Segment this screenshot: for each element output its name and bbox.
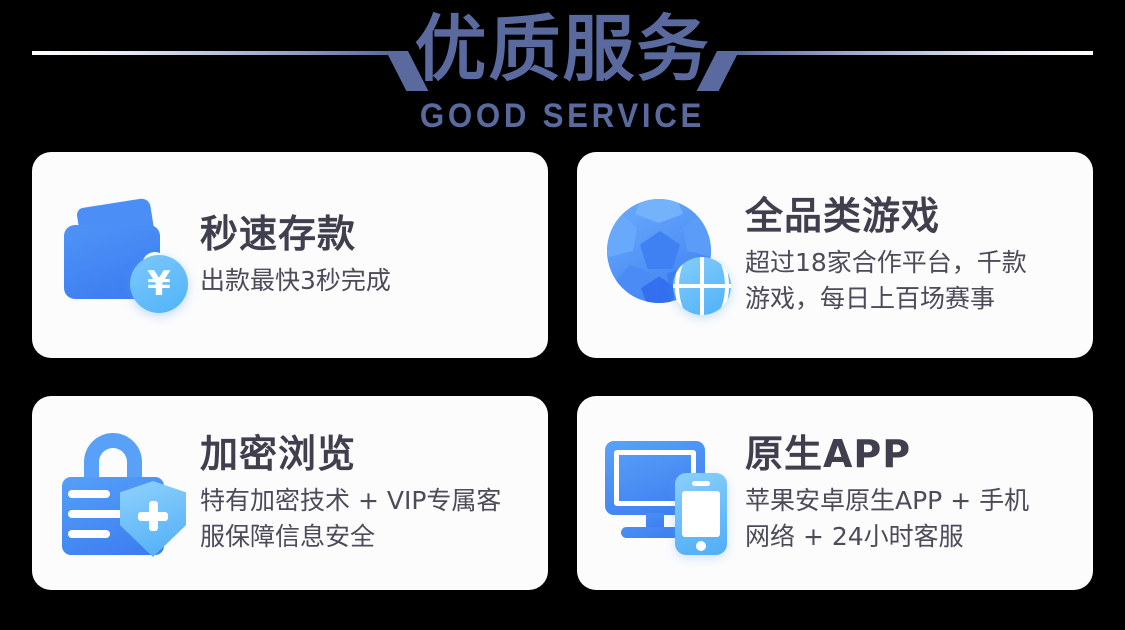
phone-home-button-icon (696, 541, 706, 551)
padlock-line (68, 510, 124, 518)
feature-card-deposit[interactable]: ¥ 秒速存款 出款最快3秒完成 (32, 152, 548, 358)
feature-card-subtitle: 特有加密技术 + VIP专属客 服保障信息安全 (200, 483, 530, 555)
lock-shield-icon (58, 427, 190, 559)
smartphone-icon (675, 473, 727, 555)
feature-card-native-app[interactable]: 原生APP 苹果安卓原生APP + 手机 网络 + 24小时客服 (577, 396, 1093, 590)
feature-card-title: 加密浏览 (200, 431, 530, 477)
feature-card-title: 原生APP (745, 431, 1075, 477)
feature-card-games[interactable]: 全品类游戏 超过18家合作平台，千款 游戏，每日上百场赛事 (577, 152, 1093, 358)
phone-speaker-icon (692, 481, 710, 486)
monitor-phone-icon (603, 427, 735, 559)
poster-root: 优质服务 GOOD SERVICE ¥ 秒速存款 出款最快3秒完成 (0, 0, 1125, 630)
basketball-arc (675, 257, 729, 315)
wallet-coin-icon: ¥ (58, 189, 190, 321)
feature-card-encryption[interactable]: 加密浏览 特有加密技术 + VIP专属客 服保障信息安全 (32, 396, 548, 590)
feature-card-title: 秒速存款 (200, 211, 530, 257)
padlock-line (68, 530, 110, 538)
feature-card-subtitle: 苹果安卓原生APP + 手机 网络 + 24小时客服 (745, 483, 1075, 555)
page-subtitle-en: GOOD SERVICE (45, 97, 1080, 135)
feature-card-grid: ¥ 秒速存款 出款最快3秒完成 (32, 152, 1093, 596)
yen-coin-icon: ¥ (130, 255, 188, 313)
soccer-panel (607, 215, 637, 257)
yen-symbol: ¥ (147, 267, 171, 301)
feature-card-text: 秒速存款 出款最快3秒完成 (200, 211, 530, 299)
feature-card-subtitle: 出款最快3秒完成 (200, 263, 530, 299)
feature-card-subtitle: 超过18家合作平台，千款 游戏，每日上百场赛事 (745, 245, 1075, 317)
soccer-basketball-icon (603, 189, 735, 321)
feature-card-title: 全品类游戏 (745, 193, 1075, 239)
page-title-cn: 优质服务 (0, 6, 1125, 92)
padlock-line (68, 490, 110, 498)
phone-screen-icon (682, 491, 720, 537)
header: 优质服务 GOOD SERVICE (0, 0, 1125, 145)
feature-card-text: 原生APP 苹果安卓原生APP + 手机 网络 + 24小时客服 (745, 431, 1075, 555)
feature-card-text: 加密浏览 特有加密技术 + VIP专属客 服保障信息安全 (200, 431, 530, 555)
soccer-panel (635, 199, 683, 223)
soccer-panel (640, 231, 680, 269)
basketball-icon (673, 257, 731, 315)
plus-icon (138, 501, 168, 531)
soccer-panel (683, 215, 711, 257)
feature-card-text: 全品类游戏 超过18家合作平台，千款 游戏，每日上百场赛事 (745, 193, 1075, 317)
